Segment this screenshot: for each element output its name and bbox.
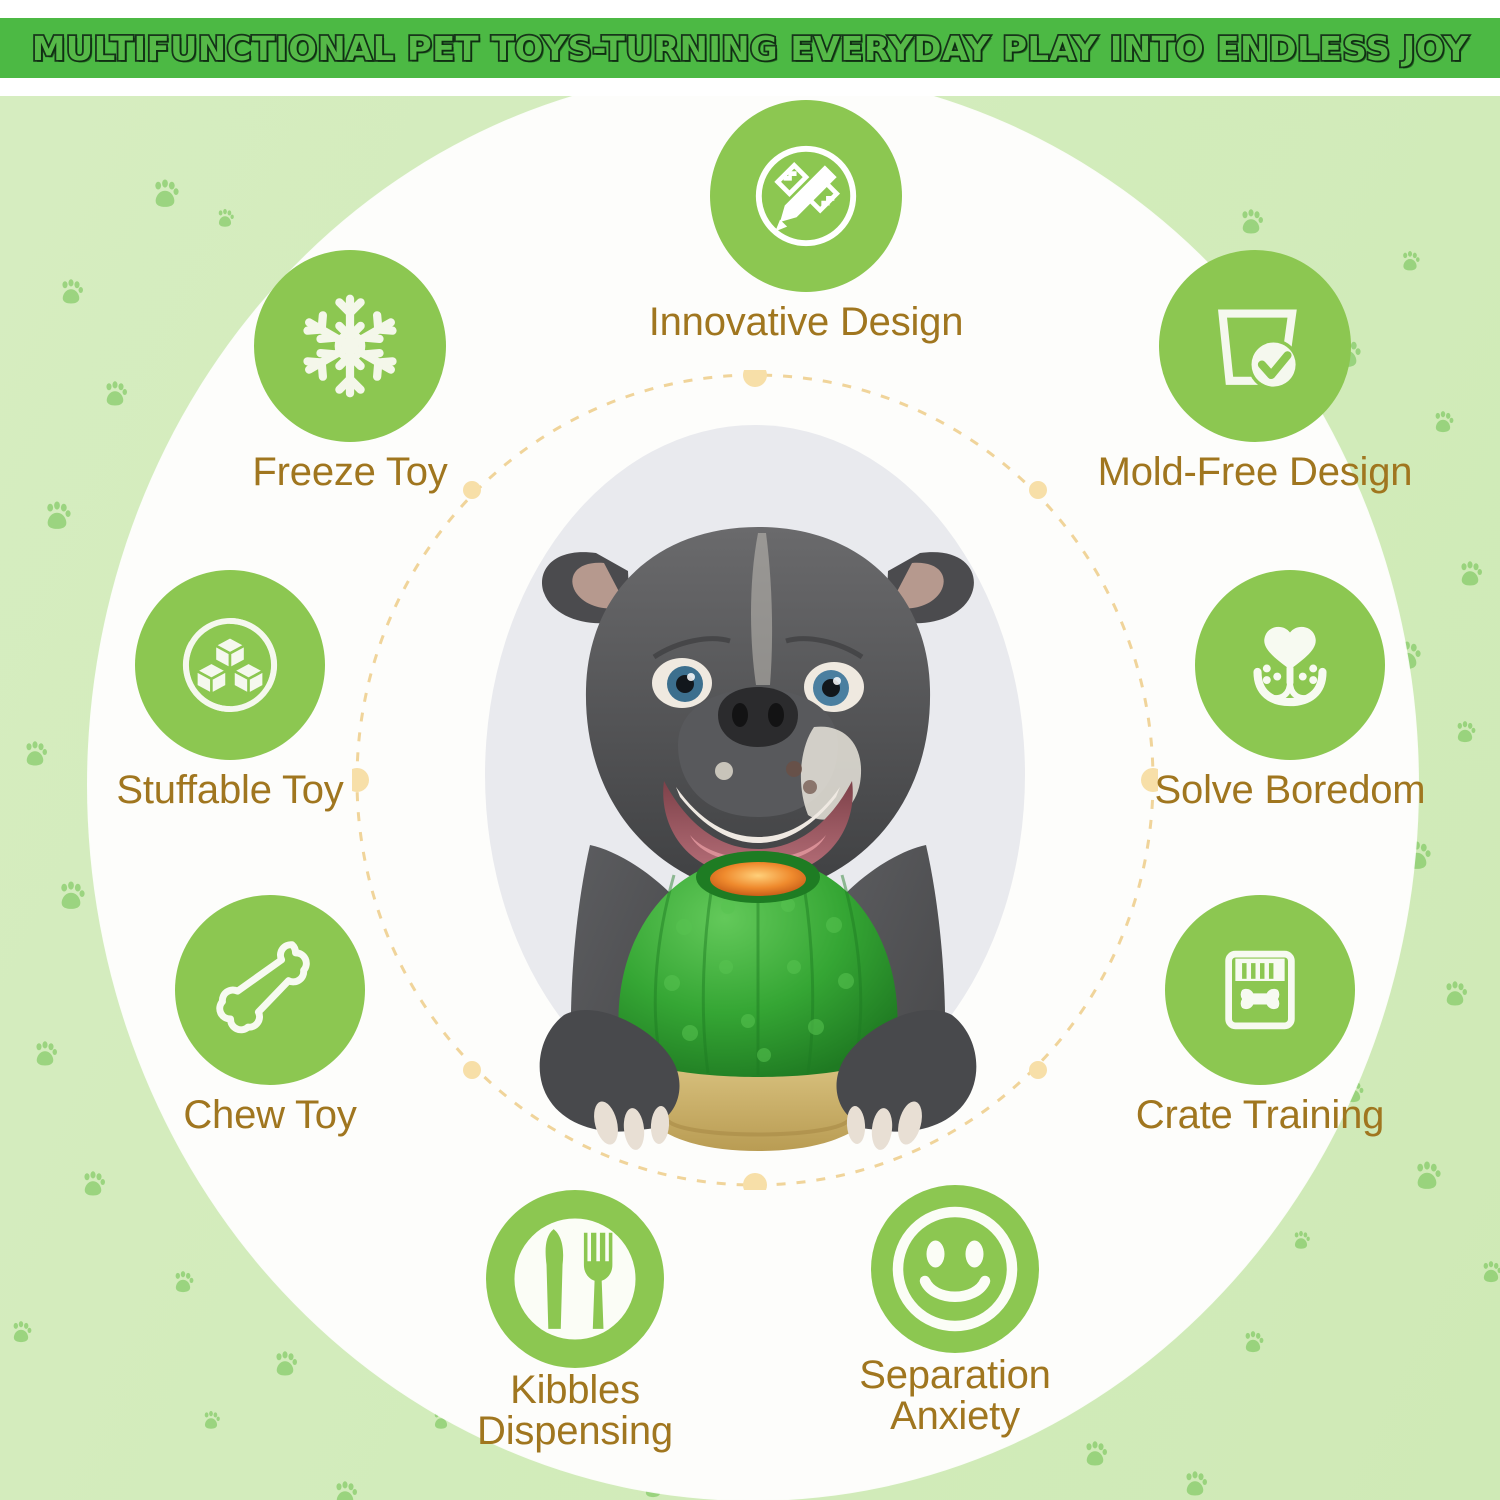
feature-icon-bubble [1165, 895, 1355, 1085]
feature-separation-anxiety[interactable]: Separation Anxiety [745, 1185, 1165, 1437]
paw-print [1236, 208, 1266, 238]
banner-headline: MULTIFUNCTIONAL PET TOYS-TURNING EVERYDA… [32, 29, 1469, 68]
infographic-canvas: Innovative Design [0, 80, 1500, 1500]
feature-icon-bubble [1195, 570, 1385, 760]
bone-outline-icon [212, 932, 328, 1048]
paw-print [170, 1270, 196, 1296]
feature-icon-bubble [871, 1185, 1039, 1353]
paw-print [100, 380, 130, 410]
feature-stuffable-toy[interactable]: Stuffable Toy [20, 570, 440, 811]
frame-check-icon [1197, 288, 1313, 404]
feature-crate-training[interactable]: Crate Training [1050, 895, 1470, 1136]
paw-print [270, 1350, 300, 1380]
feature-icon-bubble [486, 1190, 664, 1368]
dog-muzzle-heart-icon [1232, 607, 1348, 723]
feature-label: Chew Toy [60, 1095, 480, 1136]
feature-label: Innovative Design [556, 302, 1056, 343]
feature-label: Separation Anxiety [745, 1355, 1165, 1437]
feature-solve-boredom[interactable]: Solve Boredom [1080, 570, 1500, 811]
snowflake-icon [291, 287, 409, 405]
feature-mold-free-design[interactable]: Mold-Free Design [1020, 250, 1490, 493]
paw-print [148, 178, 182, 212]
paw-print [8, 1320, 34, 1346]
cubes-refresh-icon [172, 607, 288, 723]
feature-label: Kibbles Dispensing [375, 1370, 775, 1452]
banner-bar: MULTIFUNCTIONAL PET TOYS-TURNING EVERYDA… [0, 0, 1500, 96]
paw-print [1478, 1260, 1500, 1286]
feature-icon-bubble [1159, 250, 1351, 442]
paw-print [1180, 1470, 1210, 1500]
paw-print [330, 1480, 360, 1500]
feature-icon-bubble [175, 895, 365, 1085]
smiley-face-icon [880, 1194, 1030, 1344]
feature-freeze-toy[interactable]: Freeze Toy [140, 250, 560, 493]
pencil-ruler-icon [747, 137, 865, 255]
feature-label: Stuffable Toy [20, 770, 440, 811]
banner-green-strip: MULTIFUNCTIONAL PET TOYS-TURNING EVERYDA… [0, 18, 1500, 78]
paw-print [200, 1410, 222, 1432]
feature-icon-bubble [254, 250, 446, 442]
paw-print [1240, 1330, 1266, 1356]
feature-label: Solve Boredom [1080, 770, 1500, 811]
dog-with-toy-photo [478, 475, 1038, 1175]
feature-chew-toy[interactable]: Chew Toy [60, 895, 480, 1136]
feature-kibbles-dispensing[interactable]: Kibbles Dispensing [375, 1190, 775, 1452]
paw-print [1290, 1230, 1312, 1252]
feature-label: Mold-Free Design [1020, 452, 1490, 493]
paw-print [56, 278, 86, 308]
paw-print [30, 1040, 60, 1070]
feature-icon-bubble [135, 570, 325, 760]
paw-print [1410, 1160, 1444, 1194]
crate-bone-icon [1204, 934, 1316, 1046]
knife-fork-plate-icon [486, 1190, 664, 1368]
paw-print [78, 1170, 108, 1200]
paw-print [40, 500, 74, 534]
paw-print [214, 208, 236, 230]
feature-innovative-design[interactable]: Innovative Design [556, 100, 1056, 343]
feature-icon-bubble [710, 100, 902, 292]
feature-label: Freeze Toy [140, 452, 560, 493]
paw-print [1080, 1440, 1110, 1470]
feature-label: Crate Training [1050, 1095, 1470, 1136]
